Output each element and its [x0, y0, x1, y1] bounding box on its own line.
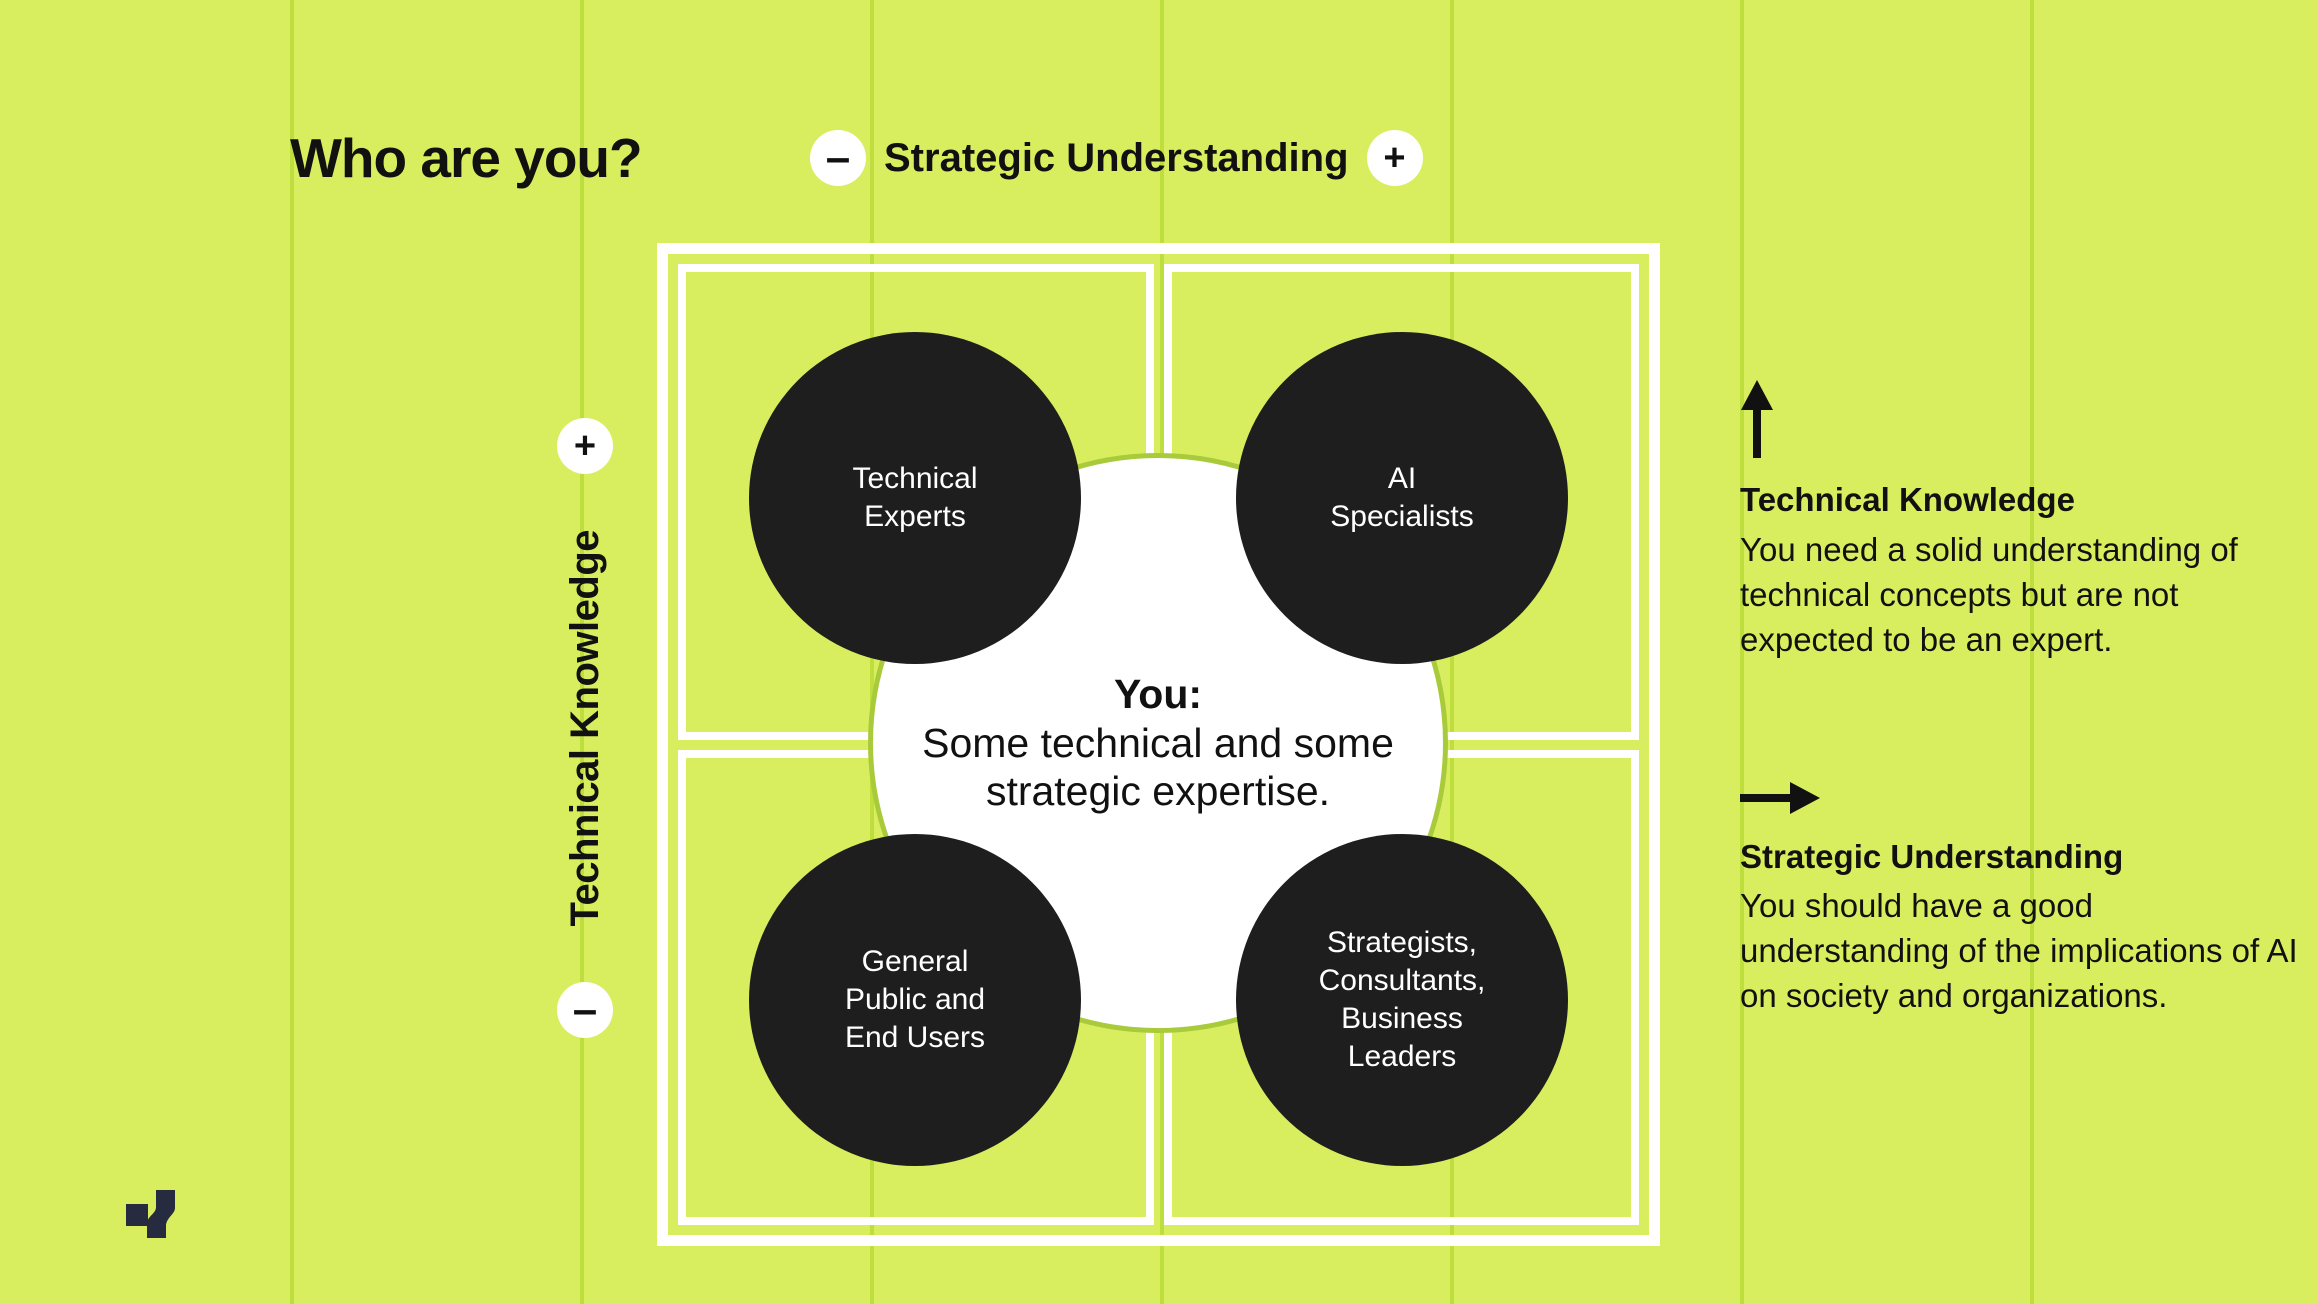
y-axis-legend: + Technical Knowledge –: [555, 418, 615, 1038]
minus-badge-x[interactable]: –: [810, 130, 866, 186]
brand-logo: [126, 1190, 188, 1238]
slide-canvas: Who are you? – Strategic Understanding +…: [0, 0, 2318, 1304]
minus-badge-y[interactable]: –: [557, 982, 613, 1038]
arrow-right-icon: [1740, 781, 2300, 820]
page-header: Who are you?: [290, 118, 642, 198]
persona-label: AI Specialists: [1330, 460, 1473, 536]
x-axis-label: Strategic Understanding: [884, 136, 1349, 181]
persona-circle-technical-experts[interactable]: Technical Experts: [749, 332, 1081, 664]
persona-circle-general-public[interactable]: General Public and End Users: [749, 834, 1081, 1166]
persona-label: Technical Experts: [852, 460, 977, 536]
legend-text: You should have a good understanding of …: [1740, 884, 2300, 1019]
plus-badge-x[interactable]: +: [1367, 130, 1423, 186]
persona-label: Strategists, Consultants, Business Leade…: [1319, 924, 1486, 1075]
persona-circle-ai-specialists[interactable]: AI Specialists: [1236, 332, 1568, 664]
plus-badge-y[interactable]: +: [557, 418, 613, 474]
legend-heading: Strategic Understanding: [1740, 836, 2300, 879]
legend-panel: Technical Knowledge You need a solid und…: [1740, 380, 2300, 1019]
you-body: Some technical and some strategic expert…: [873, 719, 1443, 816]
x-axis-legend: – Strategic Understanding +: [810, 118, 1423, 198]
legend-text: You need a solid understanding of techni…: [1740, 528, 2300, 663]
legend-block-technical-knowledge: Technical Knowledge You need a solid und…: [1740, 380, 2300, 663]
page-title: Who are you?: [290, 126, 642, 190]
you-heading: You:: [1114, 670, 1202, 718]
legend-block-strategic-understanding: Strategic Understanding You should have …: [1740, 781, 2300, 1020]
persona-circle-strategists[interactable]: Strategists, Consultants, Business Leade…: [1236, 834, 1568, 1166]
legend-heading: Technical Knowledge: [1740, 479, 2300, 522]
arrow-up-icon: [1740, 380, 2300, 463]
y-axis-label: Technical Knowledge: [563, 530, 608, 927]
persona-label: General Public and End Users: [845, 943, 985, 1056]
